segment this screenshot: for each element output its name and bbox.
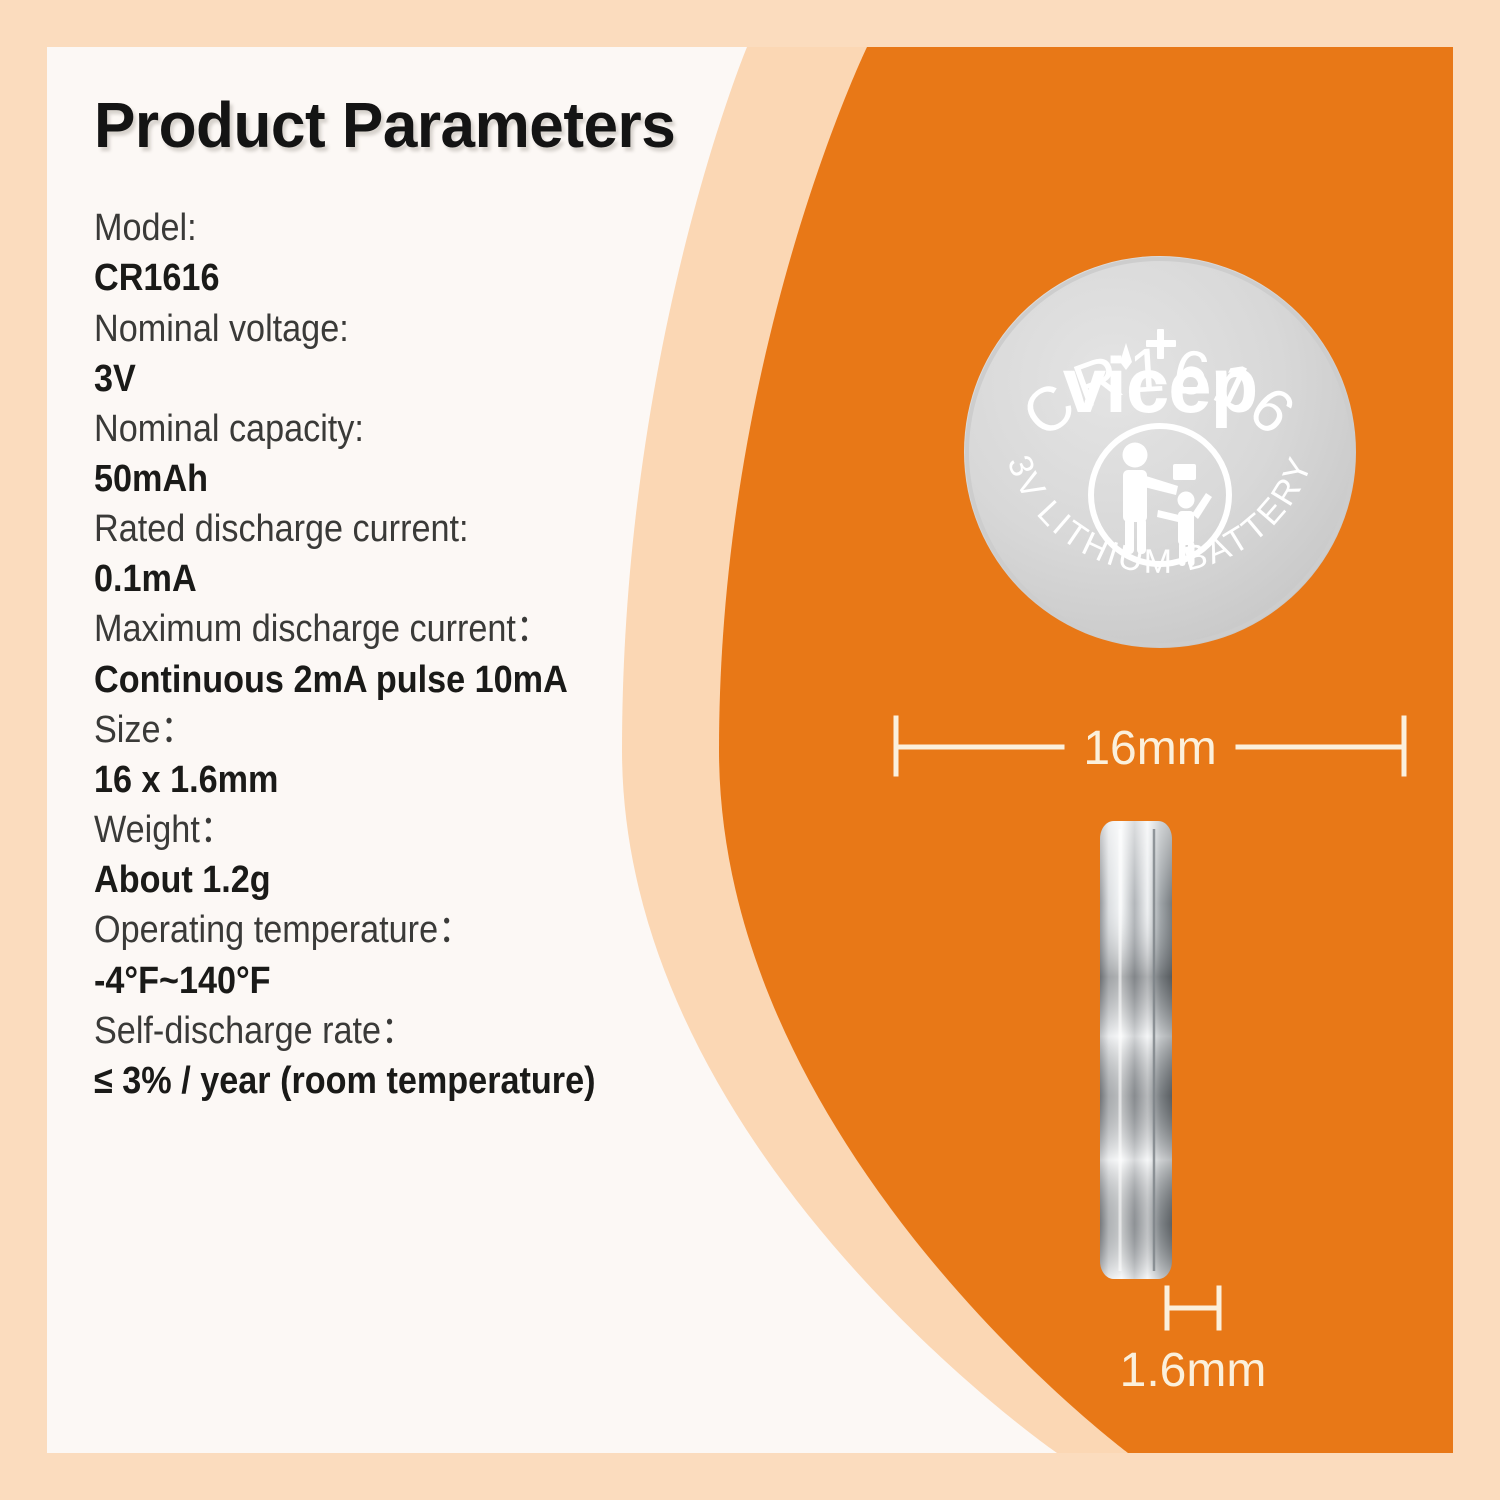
spec-row-maximum-discharge-current: Maximum discharge current： Continuous 2m… [94,604,854,704]
diameter-dimension-callout: 16mm [890,702,1410,812]
spec-row-size: Size： 16 x 1.6mm [94,705,854,805]
spec-row-rated-discharge-current: Rated discharge current: 0.1mA [94,504,854,604]
battery-side-view [1092,815,1212,1285]
side-body [1100,821,1172,1279]
spec-list: Model: CR1616 Nominal voltage: 3V Nomina… [94,203,854,1106]
spec-row-nominal-voltage: Nominal voltage: 3V [94,304,854,404]
spec-row-self-discharge-rate: Self-discharge rate： ≤ 3% / year (room t… [94,1006,854,1106]
diameter-label: 16mm [1083,722,1216,775]
spec-value: ≤ 3% / year (room temperature) [94,1056,778,1106]
spec-row-model: Model: CR1616 [94,203,854,303]
spec-row-weight: Weight： About 1.2g [94,805,854,905]
spec-label: Weight： [94,805,778,855]
spec-row-nominal-capacity: Nominal capacity: 50mAh [94,404,854,504]
spec-value: 3V [94,354,778,404]
spec-value: 16 x 1.6mm [94,755,778,805]
spec-label: Rated discharge current: [94,504,778,554]
spec-value: CR1616 [94,253,778,303]
brand-wordmark: vicep [1063,341,1257,429]
spec-label: Nominal capacity: [94,404,778,454]
product-parameters-image: Product Parameters Model: CR1616 Nominal… [0,0,1500,1500]
spec-label: Model: [94,203,778,253]
page-title: Product Parameters [94,92,831,159]
specs-column: Product Parameters Model: CR1616 Nominal… [94,92,854,1106]
spec-row-operating-temperature: Operating temperature： -4°F~140°F [94,905,854,1005]
spec-label: Operating temperature： [94,905,778,955]
thickness-label: 1.6mm [1120,1344,1267,1397]
spec-value: 50mAh [94,454,778,504]
spec-value: About 1.2g [94,855,778,905]
spec-label: Self-discharge rate： [94,1006,778,1056]
spec-label: Nominal voltage: [94,304,778,354]
battery-top-view: CR1616 vicep [950,242,1370,662]
spec-label: Size： [94,705,778,755]
thickness-dimension-callout: 1.6mm [1037,1282,1357,1412]
content-panel: Product Parameters Model: CR1616 Nominal… [47,47,1453,1453]
spec-value: 0.1mA [94,554,778,604]
svg-text:vicep: vicep [1063,341,1257,429]
spec-value: -4°F~140°F [94,956,778,1006]
spec-value: Continuous 2mA pulse 10mA [94,655,778,705]
spec-label: Maximum discharge current： [94,604,778,654]
